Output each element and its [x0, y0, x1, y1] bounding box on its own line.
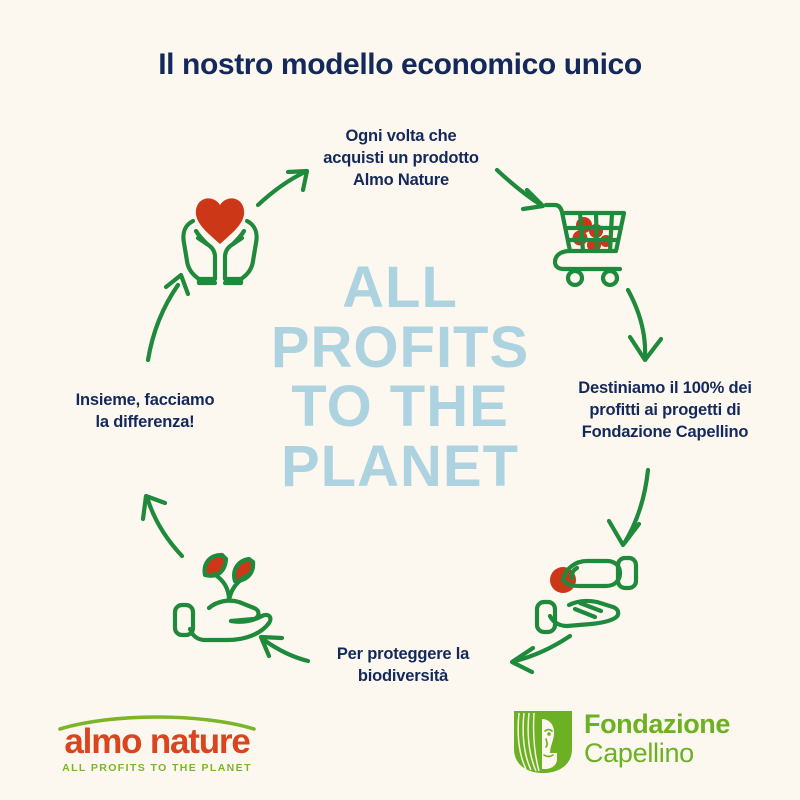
- fondazione-line-2: Capellino: [584, 739, 730, 768]
- caption-profits-line-3: Fondazione Capellino: [582, 423, 749, 441]
- caption-biodiversity-line-2: biodiversità: [358, 667, 448, 685]
- caption-profits-line-1: Destiniamo il 100% dei: [578, 379, 752, 397]
- infographic-canvas: Il nostro modello economico unico ALL PR…: [0, 0, 800, 800]
- caption-together-line-2: la differenza!: [96, 413, 195, 431]
- fondazione-line-1: Fondazione: [584, 710, 730, 739]
- page-title: Il nostro modello economico unico: [0, 48, 800, 82]
- watermark-line-3: TO THE: [200, 377, 600, 437]
- caption-purchase-line-3: Almo Nature: [353, 171, 449, 189]
- shopping-cart-icon: [528, 183, 643, 288]
- giving-hands-coin-icon: [525, 545, 650, 645]
- caption-biodiversity: Per proteggere la biodiversità: [295, 644, 511, 688]
- hand-sprout-icon: [165, 545, 290, 645]
- caption-together: Insieme, facciamo la differenza!: [35, 390, 255, 434]
- caption-purchase: Ogni volta che acquisti un prodotto Almo…: [285, 126, 517, 191]
- caption-biodiversity-line-1: Per proteggere la: [337, 645, 469, 663]
- almo-nature-wordmark: almo nature: [52, 724, 262, 759]
- almo-nature-tagline: ALL PROFITS TO THE PLANET: [52, 762, 262, 774]
- hands-heart-icon: [165, 183, 275, 288]
- caption-profits: Destiniamo il 100% dei profitti ai proge…: [545, 378, 785, 443]
- fondazione-capellino-logo: Fondazione Capellino: [512, 706, 762, 780]
- caption-purchase-line-2: acquisti un prodotto: [323, 149, 478, 167]
- fondazione-capellino-mark-icon: [512, 709, 574, 775]
- arrow-profits-to-giving: [609, 470, 648, 545]
- watermark-line-2: PROFITS: [200, 318, 600, 378]
- arrow-cart-to-profits: [628, 290, 661, 360]
- caption-together-line-1: Insieme, facciamo: [76, 391, 215, 409]
- caption-purchase-line-1: Ogni volta che: [346, 127, 457, 145]
- caption-profits-line-2: profitti ai progetti di: [589, 401, 740, 419]
- watermark-line-4: PLANET: [200, 437, 600, 497]
- center-watermark: ALL PROFITS TO THE PLANET: [200, 258, 600, 497]
- almo-nature-logo: almo nature ALL PROFITS TO THE PLANET: [52, 712, 262, 778]
- fondazione-capellino-wordmark: Fondazione Capellino: [584, 710, 730, 768]
